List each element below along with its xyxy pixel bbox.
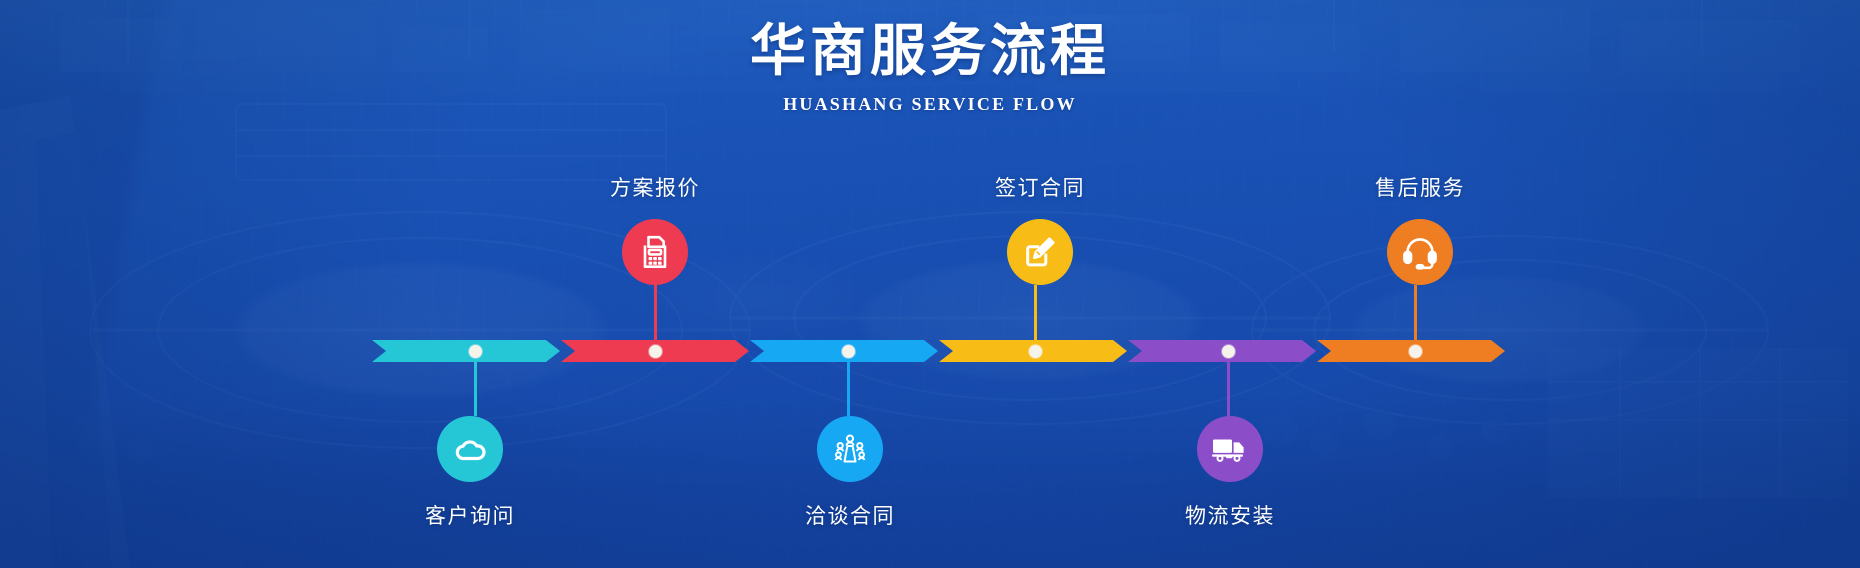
flow-step-6-icon-button[interactable] (1387, 219, 1453, 285)
flow-node-dot-4[interactable] (1029, 345, 1042, 358)
flow-step-5-icon-button[interactable] (1197, 416, 1263, 482)
flow-connector-2 (654, 285, 657, 346)
service-flow-banner: 华商服务流程 HUASHANG SERVICE FLOW 客户询问 方案报价 (0, 0, 1860, 568)
flow-connector-6 (1414, 285, 1417, 346)
flow-connector-5 (1227, 356, 1230, 416)
flow-step-6-label: 售后服务 (1320, 172, 1520, 202)
delivery-truck-icon (1210, 432, 1250, 466)
pencil-edit-icon (1020, 232, 1060, 272)
flow-node-dot-3[interactable] (842, 345, 855, 358)
flow-step-1-label: 客户询问 (370, 500, 570, 530)
flow-node-dot-5[interactable] (1222, 345, 1235, 358)
flow-step-4-label: 签订合同 (940, 172, 1140, 202)
service-flow-diagram: 客户询问 方案报价 (0, 0, 1860, 568)
flow-node-dot-2[interactable] (649, 345, 662, 358)
flow-step-2-label: 方案报价 (555, 172, 755, 202)
flow-step-4-icon-button[interactable] (1007, 219, 1073, 285)
flow-node-dot-1[interactable] (469, 345, 482, 358)
flow-step-5-label: 物流安装 (1130, 500, 1330, 530)
flow-step-3-icon-button[interactable] (817, 416, 883, 482)
flow-connector-3 (847, 356, 850, 416)
flow-step-list: 客户询问 方案报价 (0, 0, 1860, 568)
calculator-icon (636, 232, 674, 272)
flow-chevron-1[interactable] (372, 340, 560, 362)
flow-step-2-icon-button[interactable] (622, 219, 688, 285)
flow-step-1-icon-button[interactable] (437, 416, 503, 482)
meeting-table-icon (831, 430, 869, 468)
flow-connector-4 (1034, 285, 1037, 346)
cloud-icon (450, 429, 490, 469)
headset-support-icon (1400, 233, 1440, 271)
flow-step-3-label: 洽谈合同 (750, 500, 950, 530)
flow-connector-1 (474, 356, 477, 416)
flow-node-dot-6[interactable] (1409, 345, 1422, 358)
